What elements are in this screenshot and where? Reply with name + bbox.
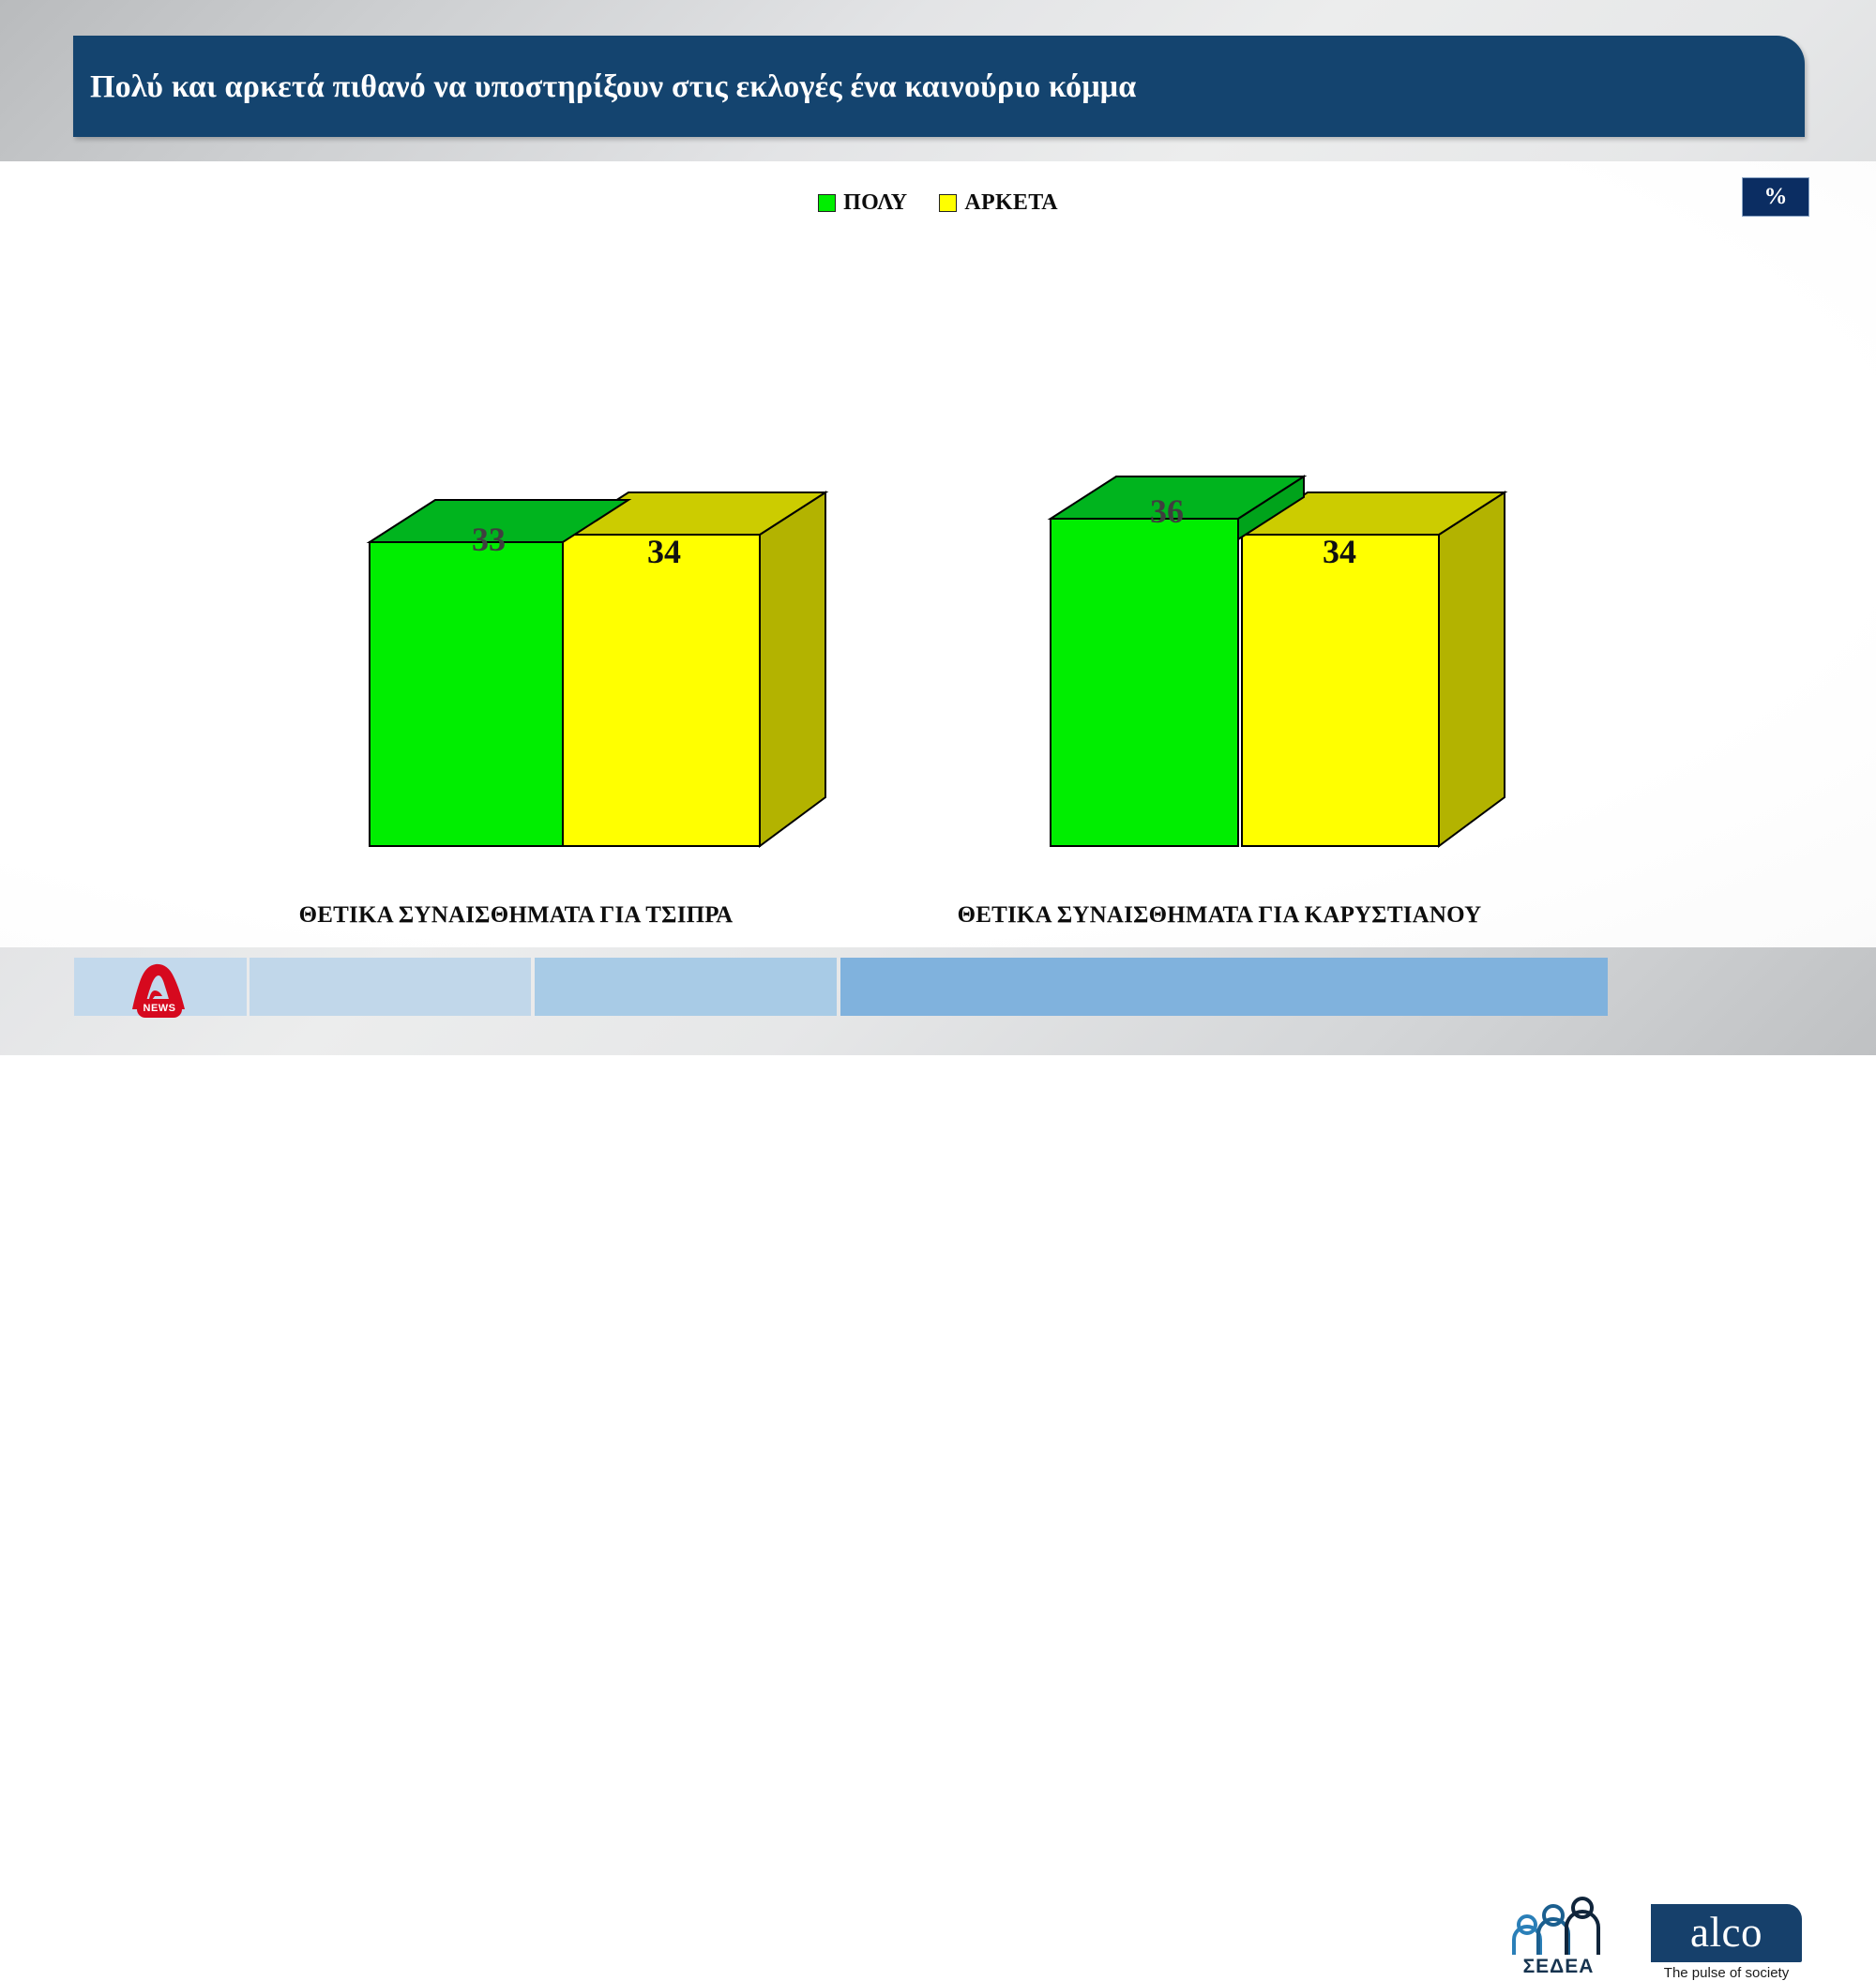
- legend-swatch-yellow-icon: [939, 194, 957, 212]
- chart-legend: ΠΟΛΥ ΑΡΚΕΤΑ: [0, 190, 1876, 216]
- title-bar: Πολύ και αρκετά πιθανό να υποστηρίξουν σ…: [73, 36, 1805, 137]
- legend-item-polu[interactable]: ΠΟΛΥ: [818, 190, 907, 216]
- legend-swatch-green-icon: [818, 194, 836, 212]
- chart-plot-area: [0, 161, 1876, 947]
- alpha-news-badge: NEWS: [137, 999, 182, 1018]
- value-label-group1-arketa: 34: [647, 532, 681, 571]
- sedea-label: ΣΕΔΕΑ: [1495, 1956, 1622, 1978]
- footer-panel-3: [535, 958, 837, 1016]
- value-label-group2-polu: 36: [1150, 491, 1184, 531]
- category-label-tsipra: ΘΕΤΙΚΑ ΣΥΝΑΙΣΘΗΜΑΤΑ ΓΙΑ ΤΣΙΠΡΑ: [169, 902, 863, 929]
- legend-label-arketa: ΑΡΚΕΤΑ: [964, 190, 1057, 216]
- bar-group1-arketa[interactable]: [563, 492, 825, 846]
- slide: Πολύ και αρκετά πιθανό να υποστηρίξουν σ…: [0, 0, 1876, 1055]
- footer-panel-2: [250, 958, 531, 1016]
- alco-tagline: The pulse of society: [1651, 1965, 1802, 1981]
- alco-logo: alco: [1651, 1904, 1802, 1962]
- value-label-group1-polu: 33: [472, 520, 506, 559]
- page-title: Πολύ και αρκετά πιθανό να υποστηρίξουν σ…: [90, 69, 1136, 105]
- footer-bar: NEWS ΣΕΔΕΑ alco The pulse of society: [0, 949, 1876, 1055]
- footer-panel-4: [840, 958, 1608, 1016]
- legend-label-polu: ΠΟΛΥ: [843, 190, 907, 216]
- value-label-group2-arketa: 34: [1323, 532, 1356, 571]
- legend-item-arketa[interactable]: ΑΡΚΕΤΑ: [939, 190, 1057, 216]
- category-label-karystianou: ΘΕΤΙΚΑ ΣΥΝΑΙΣΘΗΜΑΤΑ ΓΙΑ ΚΑΡΥΣΤΙΑΝΟΥ: [844, 902, 1595, 929]
- bar-group2-arketa[interactable]: [1242, 492, 1505, 846]
- alco-wordmark: alco: [1690, 1912, 1763, 1954]
